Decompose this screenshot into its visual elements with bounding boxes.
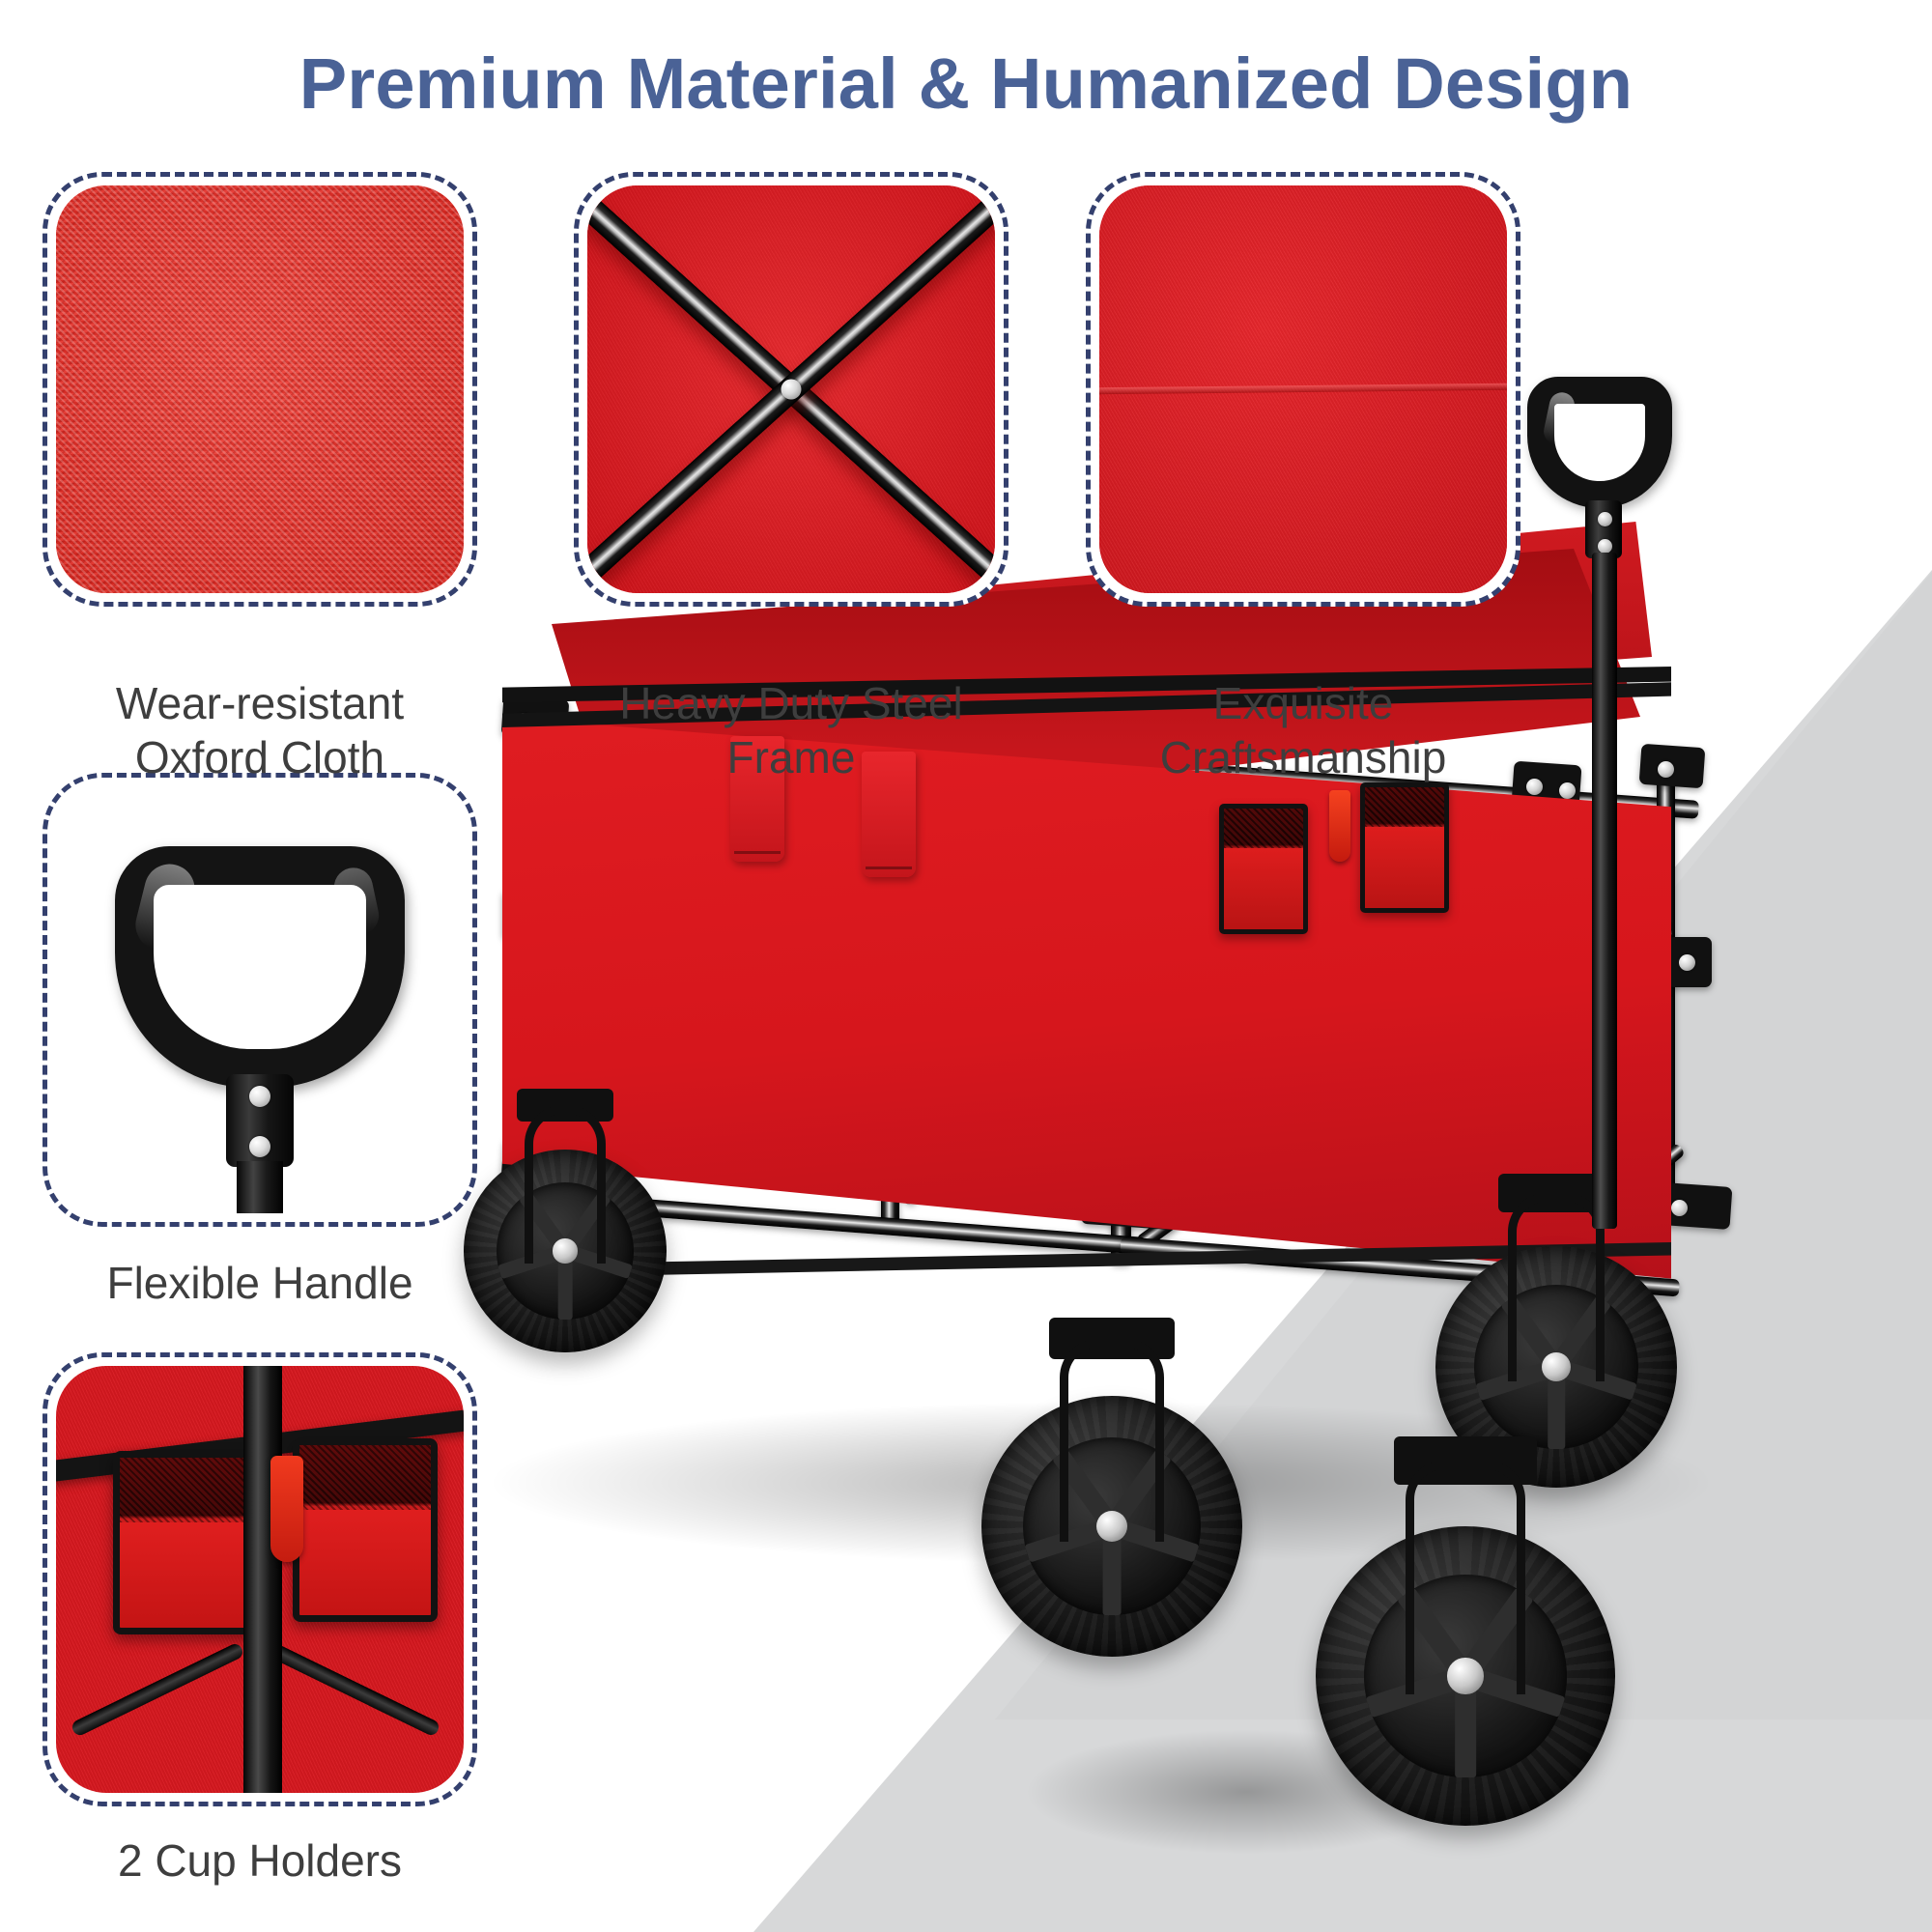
wheel-fork xyxy=(525,1105,606,1264)
infographic-canvas: Premium Material & Humanized Design Wear… xyxy=(0,0,1932,1932)
caption-line-2: Craftsmanship xyxy=(1086,730,1520,784)
swatch-oxford-cloth xyxy=(56,185,464,593)
caption-line-2: Frame xyxy=(574,730,1009,784)
red-clip-icon xyxy=(1329,790,1350,862)
caption-line-2: Oxford Cloth xyxy=(43,730,477,784)
feature-card-2-cup-holders xyxy=(43,1352,477,1806)
cup-holder-pocket xyxy=(1219,804,1308,934)
caption-line-1: Heavy Duty Steel xyxy=(574,676,1009,730)
wheel-fork xyxy=(1060,1339,1164,1543)
handle-shaft xyxy=(237,1161,283,1213)
d-grip-handle-icon xyxy=(115,846,405,1088)
wheel-front-right xyxy=(1316,1526,1615,1826)
feature-caption-wear-resistant-oxford-cloth: Wear-resistant Oxford Cloth xyxy=(43,676,477,784)
caption-line-1: Flexible Handle xyxy=(43,1256,477,1310)
handle-pole xyxy=(243,1366,282,1793)
wheel-rear-left xyxy=(464,1150,667,1352)
red-clip-icon xyxy=(270,1456,303,1562)
feature-card-exquisite-craftsmanship xyxy=(1086,172,1520,607)
pull-handle xyxy=(1502,377,1695,1362)
caption-line-1: Wear-resistant xyxy=(43,676,477,730)
cup-holder-pocket-icon xyxy=(113,1451,258,1634)
feature-caption-exquisite-craftsmanship: Exquisite Craftsmanship xyxy=(1086,676,1520,784)
page-title: Premium Material & Humanized Design xyxy=(0,43,1932,125)
fabric-texture-icon xyxy=(56,185,464,593)
stitched-seam-icon xyxy=(1099,383,1507,394)
rivet-icon xyxy=(249,1136,270,1157)
frame-cross-bar xyxy=(71,1641,245,1737)
rivet-icon xyxy=(1598,512,1612,526)
feature-card-flexible-handle xyxy=(43,773,477,1227)
swatch-craftsmanship xyxy=(1099,185,1507,593)
swatch-flexible-handle xyxy=(56,786,464,1213)
feature-card-wear-resistant-oxford-cloth xyxy=(43,172,477,607)
wheel-front-left xyxy=(981,1396,1242,1657)
fabric-background xyxy=(1099,185,1507,593)
bolt-icon xyxy=(781,380,802,400)
handle-illustration xyxy=(56,786,464,1213)
feature-caption-flexible-handle: Flexible Handle xyxy=(43,1256,477,1310)
cup-holder-illustration xyxy=(56,1366,464,1793)
swatch-cup-holders xyxy=(56,1366,464,1793)
cup-holder-pocket-icon xyxy=(293,1438,438,1622)
feature-card-heavy-duty-steel-frame xyxy=(574,172,1009,607)
d-grip-handle-icon xyxy=(1527,377,1672,508)
rivet-icon xyxy=(1598,539,1612,554)
wheel-fork xyxy=(1406,1461,1525,1694)
caption-line-1: Exquisite xyxy=(1086,676,1520,730)
feature-caption-2-cup-holders: 2 Cup Holders xyxy=(43,1833,477,1888)
frame-cross-bar xyxy=(266,1641,440,1737)
handle-shaft xyxy=(1592,553,1617,1229)
rivet-icon xyxy=(249,1086,270,1107)
feature-caption-heavy-duty-steel-frame: Heavy Duty Steel Frame xyxy=(574,676,1009,784)
swatch-steel-frame xyxy=(587,185,995,593)
cup-holder-pocket xyxy=(1360,782,1449,913)
caption-line-1: 2 Cup Holders xyxy=(43,1833,477,1888)
